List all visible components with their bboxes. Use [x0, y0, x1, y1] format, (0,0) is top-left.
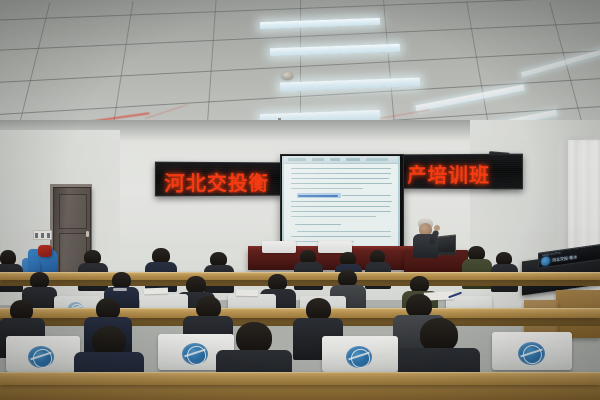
chair-logo-icon: [28, 346, 54, 368]
led-banner-left-text: 河北交投衡: [164, 167, 269, 197]
desk-row-front: [0, 372, 600, 385]
ceiling-light-panel: [260, 18, 380, 29]
document-on-desk: [236, 290, 258, 296]
projected-document: [284, 156, 398, 248]
door-knob[interactable]: [86, 231, 89, 237]
led-banner-right: 产培训班: [402, 154, 523, 190]
light-switch-panel[interactable]: [33, 230, 52, 240]
chair-logo-icon: [346, 346, 372, 368]
chair-cover: [322, 336, 398, 372]
chair-cover: [492, 332, 572, 370]
chair-cover: [6, 336, 80, 372]
red-item: [38, 245, 52, 257]
wall-sign-logo-icon: [541, 256, 550, 266]
chair-logo-icon: [518, 342, 545, 365]
document-on-desk: [144, 288, 168, 295]
head-table-chair-cover: [262, 241, 296, 253]
presenter-hand: [434, 225, 440, 231]
photo-scene: 河北交投衡 产培训班: [0, 0, 600, 400]
led-banner-left: 河北交投衡: [155, 162, 282, 197]
document-heading: [298, 195, 338, 197]
desk-row: [0, 272, 600, 280]
smoke-detector-icon: [282, 72, 293, 79]
presenter: [412, 218, 452, 258]
projection-screen: [282, 156, 400, 248]
led-banner-right-text: 产培训班: [407, 159, 490, 188]
document-toolbar: [284, 156, 398, 164]
wall-sign-text: 河北交投·衡水: [552, 255, 577, 263]
chair-logo-icon: [182, 343, 208, 365]
ceiling-light-panel: [270, 44, 400, 57]
